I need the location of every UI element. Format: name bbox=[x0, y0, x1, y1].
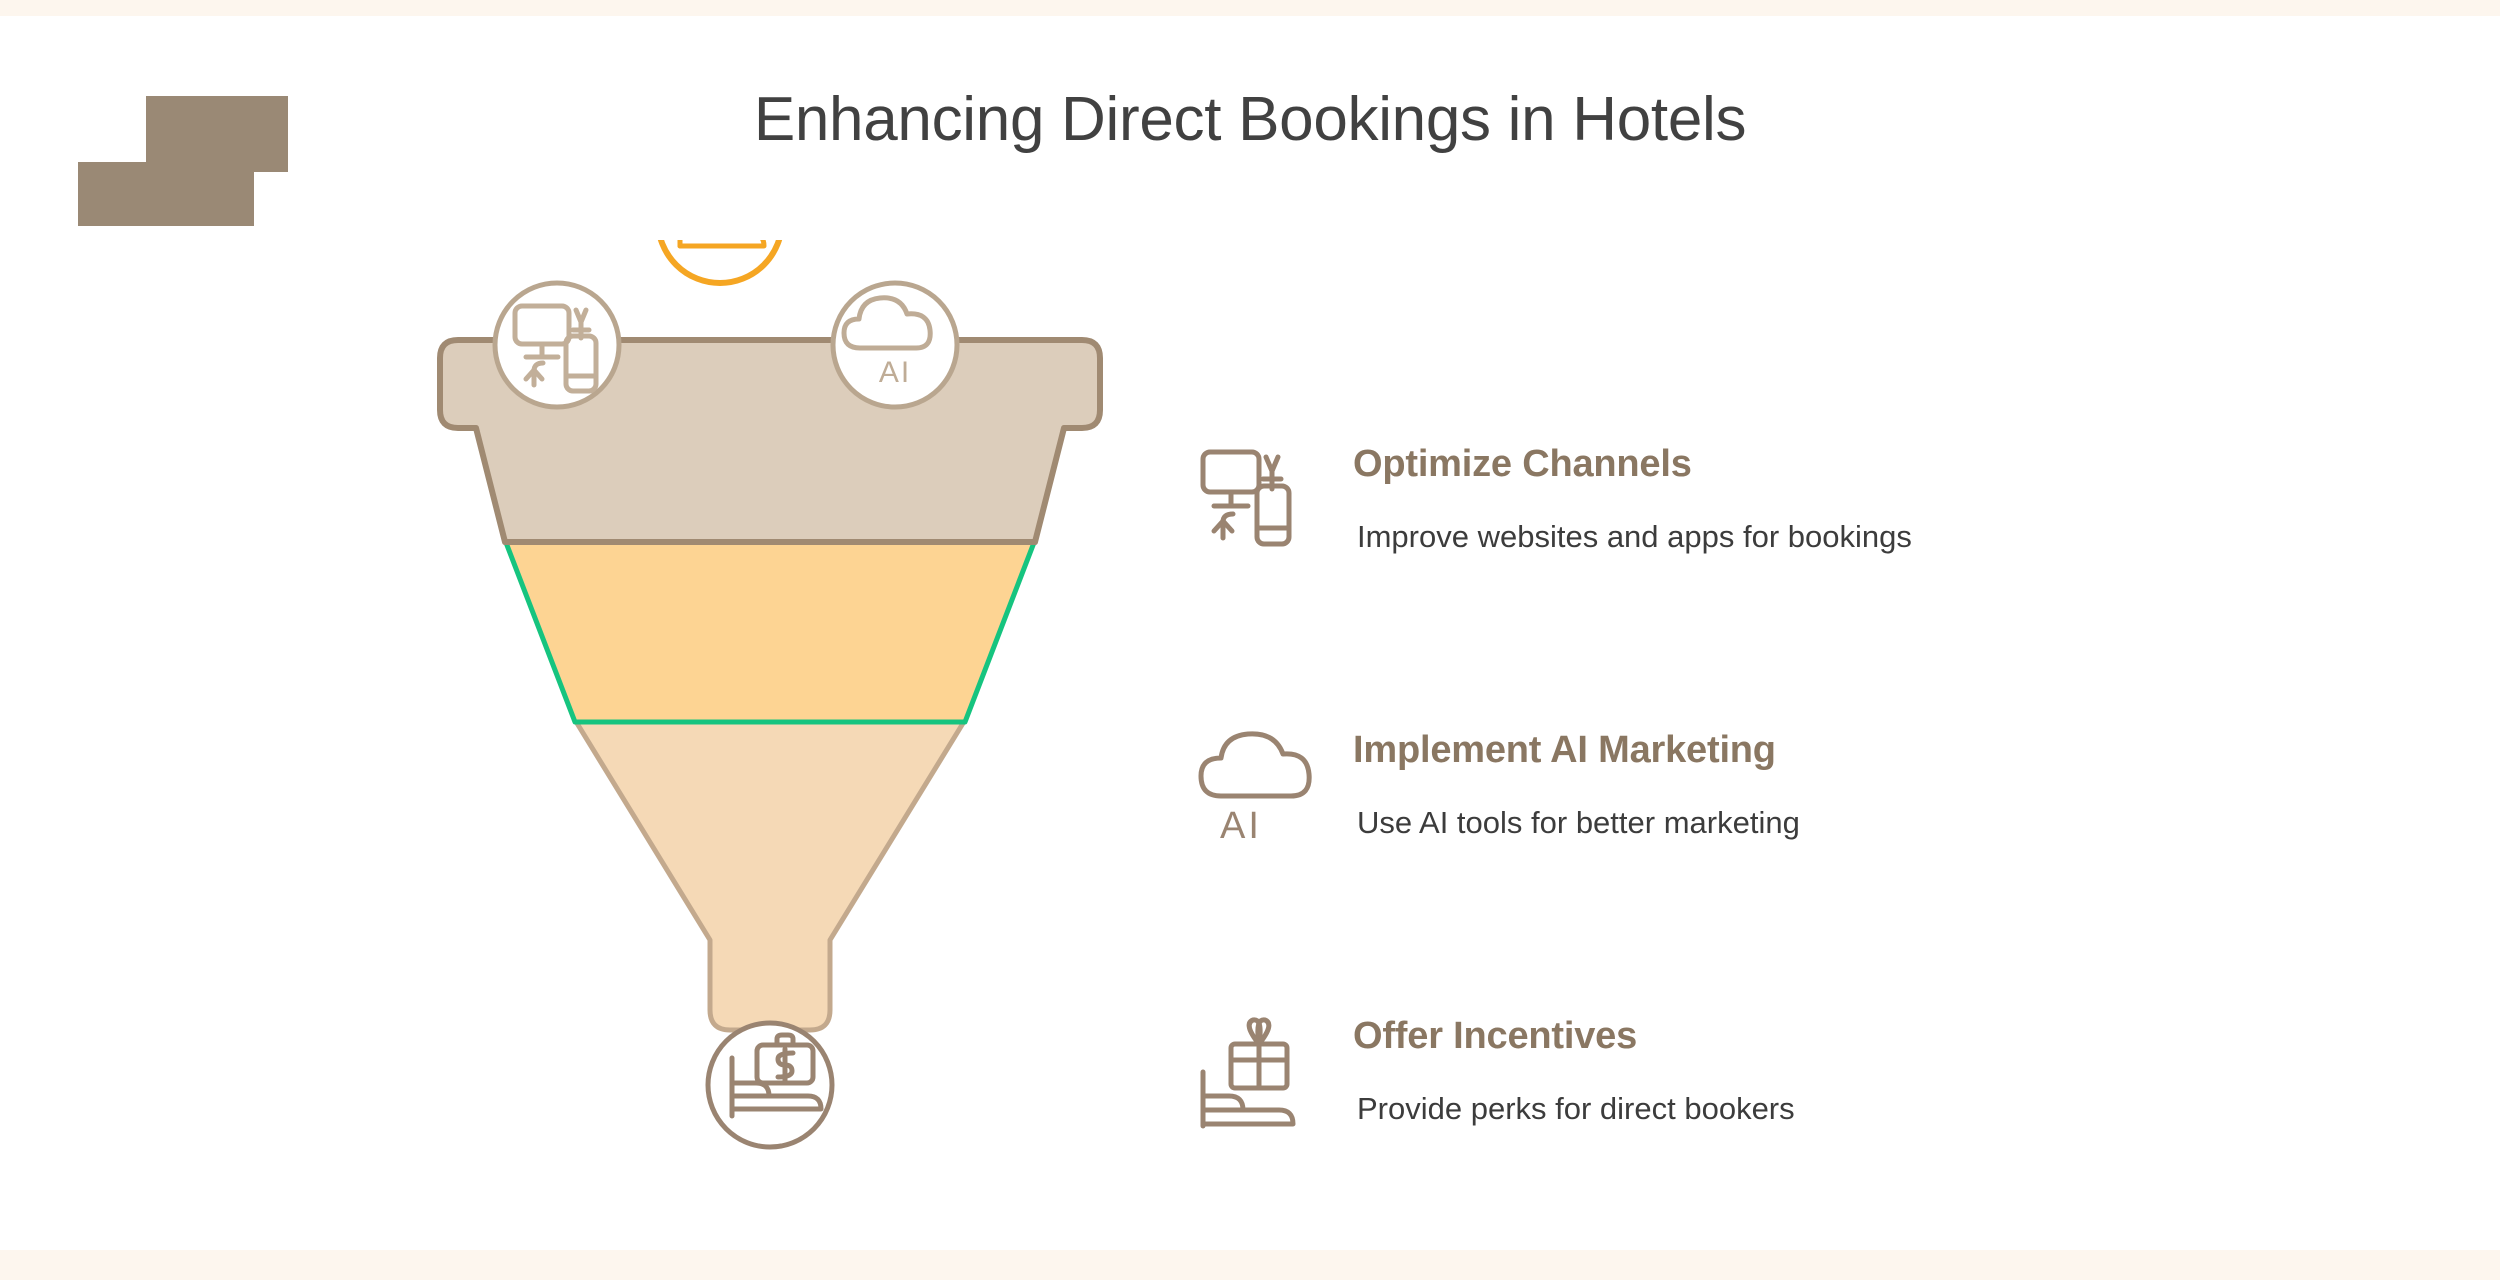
funnel-segment-bottom bbox=[575, 720, 965, 1030]
funnel-segment-middle bbox=[505, 540, 1035, 722]
slide-canvas: Enhancing Direct Bookings in Hotels bbox=[0, 0, 2500, 1280]
monitor-phone-sync-icon bbox=[1195, 444, 1315, 564]
staircase-logo bbox=[78, 96, 288, 226]
list-item: AI Implement AI Marketing Use AI tools f… bbox=[1185, 728, 2435, 928]
top-edge-strip bbox=[0, 0, 2500, 16]
list-item: Offer Incentives Provide perks for direc… bbox=[1185, 1014, 2435, 1214]
funnel-diagram: AI bbox=[430, 240, 1110, 1200]
optimize-channels-badge bbox=[495, 283, 619, 407]
list-item-description: Improve websites and apps for bookings bbox=[1357, 516, 2435, 558]
bottom-edge-strip bbox=[0, 1250, 2500, 1280]
ai-marketing-badge: AI bbox=[833, 283, 957, 407]
offer-incentives-badge bbox=[658, 240, 782, 283]
page-title: Enhancing Direct Bookings in Hotels bbox=[300, 84, 2200, 155]
svg-text:AI: AI bbox=[1220, 805, 1262, 847]
key-points-list: Optimize Channels Improve websites and a… bbox=[1185, 412, 2435, 1214]
list-item-title: Implement AI Marketing bbox=[1353, 728, 2435, 774]
list-item-description: Provide perks for direct bookers bbox=[1357, 1088, 2435, 1130]
list-item-title: Offer Incentives bbox=[1353, 1014, 2435, 1060]
logo-block-upper bbox=[146, 96, 288, 172]
revenue-outcome-badge bbox=[708, 1023, 832, 1147]
logo-block-lower bbox=[78, 162, 254, 226]
list-item-title: Optimize Channels bbox=[1353, 442, 2435, 488]
list-item-description: Use AI tools for better marketing bbox=[1357, 802, 2435, 844]
gift-bed-icon bbox=[1195, 1016, 1315, 1136]
cloud-ai-icon: AI bbox=[1195, 730, 1315, 850]
svg-text:AI: AI bbox=[879, 356, 911, 389]
list-item: Optimize Channels Improve websites and a… bbox=[1185, 442, 2435, 642]
